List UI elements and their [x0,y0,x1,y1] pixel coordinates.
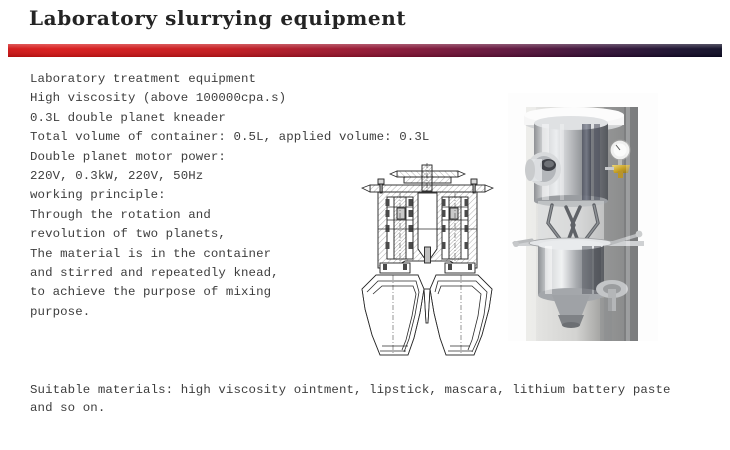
spec-line: Total volume of container: 0.5L, applied… [30,128,360,147]
spec-line: High viscosity (above 100000cpa.s) [30,89,360,108]
suitable-materials-text-block: Suitable materials: high viscosity ointm… [30,381,710,417]
double-planetary-mixer-cross-section-drawing [340,163,515,363]
spec-line: and stirred and repeatedly knead, [30,264,360,283]
spec-line: 220V, 0.3kW, 220V, 50Hz [30,167,360,186]
spec-line: The material is in the container [30,245,360,264]
spec-line: Laboratory treatment equipment [30,70,360,89]
planetary-mixer-photograph [508,93,658,341]
spec-line: purpose. [30,303,360,322]
footer-line: Suitable materials: high viscosity ointm… [30,381,710,399]
gradient-divider [8,44,722,57]
spec-line: working principle: [30,186,360,205]
slide-page: Laboratory slurrying equipment [0,0,730,450]
spec-line: Through the rotation and [30,206,360,225]
spec-line: 0.3L double planet kneader [30,109,360,128]
spec-line: Double planet motor power: [30,148,360,167]
spec-line: to achieve the purpose of mixing [30,283,360,302]
footer-line: and so on. [30,399,710,417]
specification-text-block: Laboratory treatment equipment High visc… [30,70,360,322]
spec-line: revolution of two planets, [30,225,360,244]
page-title: Laboratory slurrying equipment [29,6,406,30]
